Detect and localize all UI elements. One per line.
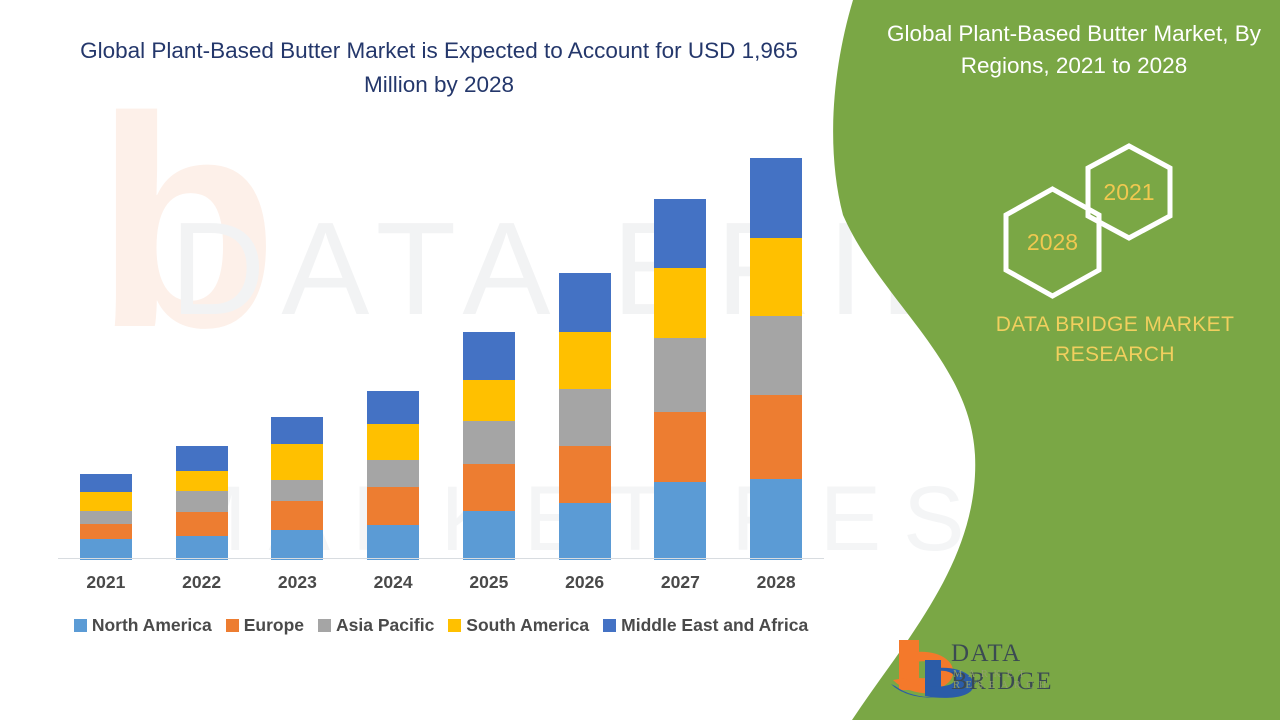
bar-segment bbox=[271, 444, 323, 479]
bar-segment bbox=[271, 417, 323, 444]
x-axis-line bbox=[58, 558, 824, 559]
bar-segment bbox=[80, 492, 132, 510]
bar-segment bbox=[559, 389, 611, 447]
chart-title: Global Plant-Based Butter Market is Expe… bbox=[64, 34, 814, 102]
bar-segment bbox=[80, 474, 132, 492]
hexagon-badge-2028-label: 2028 bbox=[1027, 229, 1078, 256]
bar-segment bbox=[750, 238, 802, 315]
bar-segment bbox=[80, 524, 132, 539]
bar-segment bbox=[176, 471, 228, 491]
x-axis-label-2027: 2027 bbox=[633, 572, 729, 593]
x-axis-label-2022: 2022 bbox=[154, 572, 250, 593]
x-axis-label-2026: 2026 bbox=[537, 572, 633, 593]
bar-segment bbox=[654, 412, 706, 482]
bar-segment bbox=[367, 460, 419, 487]
legend-swatch-icon bbox=[603, 619, 616, 632]
legend-item-south-america[interactable]: South America bbox=[448, 615, 589, 636]
chart-legend: North AmericaEuropeAsia PacificSouth Ame… bbox=[58, 615, 824, 636]
brand-name: DATA BRIDGE MARKET RESEARCH bbox=[960, 310, 1270, 371]
x-axis-label-2024: 2024 bbox=[345, 572, 441, 593]
legend-label: North America bbox=[92, 615, 212, 636]
legend-label: Asia Pacific bbox=[336, 615, 434, 636]
bar-group-2021 bbox=[80, 474, 132, 560]
legend-label: Middle East and Africa bbox=[621, 615, 808, 636]
bar-segment bbox=[367, 424, 419, 460]
bar-segment bbox=[80, 539, 132, 560]
bar-segment bbox=[367, 391, 419, 424]
bar-segment bbox=[463, 332, 515, 380]
x-axis-label-2021: 2021 bbox=[58, 572, 154, 593]
x-axis-label-2028: 2028 bbox=[728, 572, 824, 593]
bar-segment bbox=[176, 491, 228, 511]
infographic-canvas: b DATA BRIDGE MARKET RESEARCH Global Pla… bbox=[0, 0, 1280, 720]
bar-segment bbox=[463, 511, 515, 560]
stacked-bar-chart bbox=[58, 150, 824, 560]
bar-segment bbox=[176, 536, 228, 560]
bar-segment bbox=[271, 530, 323, 560]
bar-segment bbox=[176, 512, 228, 537]
bar-segment bbox=[80, 511, 132, 524]
bar-segment bbox=[176, 446, 228, 471]
bar-segment bbox=[463, 421, 515, 464]
bar-segment bbox=[750, 395, 802, 479]
bar-segment bbox=[271, 480, 323, 501]
legend-swatch-icon bbox=[318, 619, 331, 632]
bar-group-2028 bbox=[750, 158, 802, 560]
data-bridge-logo: DATA BRIDGE MARKET RESEARCH bbox=[889, 634, 1104, 702]
bar-segment bbox=[367, 487, 419, 525]
bar-segment bbox=[750, 158, 802, 238]
bar-group-2025 bbox=[463, 332, 515, 560]
bar-segment bbox=[559, 273, 611, 332]
bar-segment bbox=[463, 380, 515, 421]
legend-item-asia-pacific[interactable]: Asia Pacific bbox=[318, 615, 434, 636]
bar-segment bbox=[654, 482, 706, 560]
bar-segment bbox=[654, 338, 706, 412]
bar-group-2022 bbox=[176, 446, 228, 560]
bar-group-2024 bbox=[367, 391, 419, 560]
legend-swatch-icon bbox=[226, 619, 239, 632]
panel-title: Global Plant-Based Butter Market, By Reg… bbox=[878, 18, 1270, 82]
bar-segment bbox=[750, 316, 802, 395]
bar-segment bbox=[271, 501, 323, 530]
bar-segment bbox=[654, 268, 706, 338]
legend-swatch-icon bbox=[74, 619, 87, 632]
x-axis-label-2023: 2023 bbox=[250, 572, 346, 593]
bar-segment bbox=[463, 464, 515, 511]
hexagon-badge-2021: 2021 bbox=[1083, 142, 1175, 242]
x-axis-label-2025: 2025 bbox=[441, 572, 537, 593]
legend-item-north-america[interactable]: North America bbox=[74, 615, 212, 636]
legend-swatch-icon bbox=[448, 619, 461, 632]
bar-group-2027 bbox=[654, 199, 706, 560]
legend-label: Europe bbox=[244, 615, 304, 636]
bar-segment bbox=[654, 199, 706, 269]
legend-label: South America bbox=[466, 615, 589, 636]
bar-segment bbox=[559, 332, 611, 389]
legend-item-middle-east-and-africa[interactable]: Middle East and Africa bbox=[603, 615, 808, 636]
hexagon-badge-2021-label: 2021 bbox=[1103, 179, 1154, 206]
bar-segment bbox=[750, 479, 802, 560]
logo-tagline: MARKET RESEARCH bbox=[953, 669, 1104, 691]
bar-segment bbox=[559, 446, 611, 503]
bar-segment bbox=[367, 525, 419, 560]
bar-group-2023 bbox=[271, 417, 323, 560]
bar-segment bbox=[559, 503, 611, 560]
x-axis-labels: 20212022202320242025202620272028 bbox=[58, 572, 824, 602]
legend-item-europe[interactable]: Europe bbox=[226, 615, 304, 636]
bar-group-2026 bbox=[559, 273, 611, 560]
